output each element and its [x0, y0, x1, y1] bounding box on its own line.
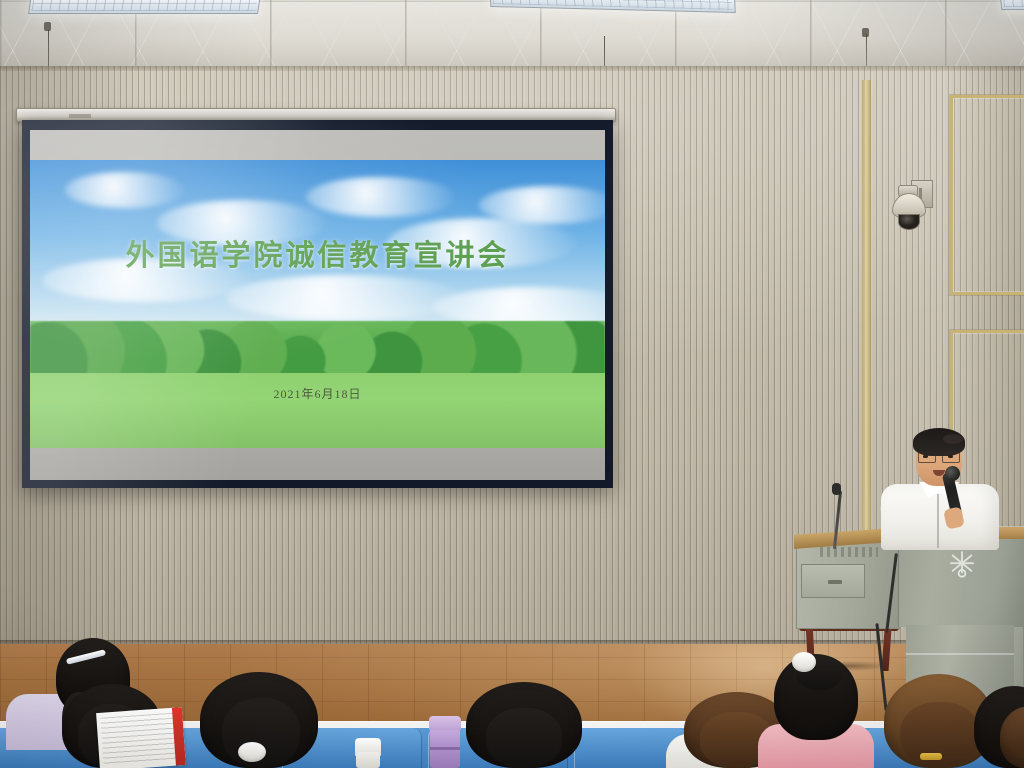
lecture-hall-photo: 外国语学院诚信教育宣讲会 2021年6月18日 [0, 0, 1024, 768]
ceiling [0, 0, 1024, 72]
audience-foreground [0, 640, 1024, 768]
presenter-eye [948, 455, 953, 458]
hair-scrunchie [792, 652, 816, 672]
fluorescent-light-icon [28, 0, 262, 14]
hair-clip [920, 753, 942, 760]
lectern-control-panel[interactable] [820, 547, 878, 557]
presenter-shirt [881, 484, 999, 550]
gooseneck-mic-head [832, 483, 841, 495]
presenter [885, 424, 993, 542]
presenter-shirt-placket [937, 494, 939, 548]
audience-hair [486, 708, 562, 768]
presenter-eye [923, 455, 928, 458]
decorative-wall-panel [950, 95, 1024, 295]
bottle-band [430, 747, 460, 750]
slide-date: 2021年6月18日 [30, 385, 605, 402]
gold-wall-trim [862, 80, 871, 550]
screen-surface: 外国语学院诚信教育宣讲会 2021年6月18日 [30, 130, 605, 480]
printed-handout[interactable] [96, 707, 186, 768]
lectern-drawer[interactable] [801, 564, 865, 598]
podium-emblem-icon [945, 547, 979, 581]
fluorescent-light-icon [999, 0, 1024, 10]
projection-screen[interactable]: 外国语学院诚信教育宣讲会 2021年6月18日 [22, 120, 613, 488]
water-bottle-cap[interactable] [429, 716, 461, 730]
camera-lens-dome [898, 214, 920, 230]
lectern-front-panel [898, 539, 1024, 627]
presentation-slide: 外国语学院诚信教育宣讲会 2021年6月18日 [30, 160, 605, 448]
handout-text-lines [100, 712, 181, 766]
hair-scrunchie [238, 742, 266, 762]
slide-title: 外国语学院诚信教育宣讲会 [30, 232, 605, 274]
water-bottle[interactable] [356, 752, 380, 768]
